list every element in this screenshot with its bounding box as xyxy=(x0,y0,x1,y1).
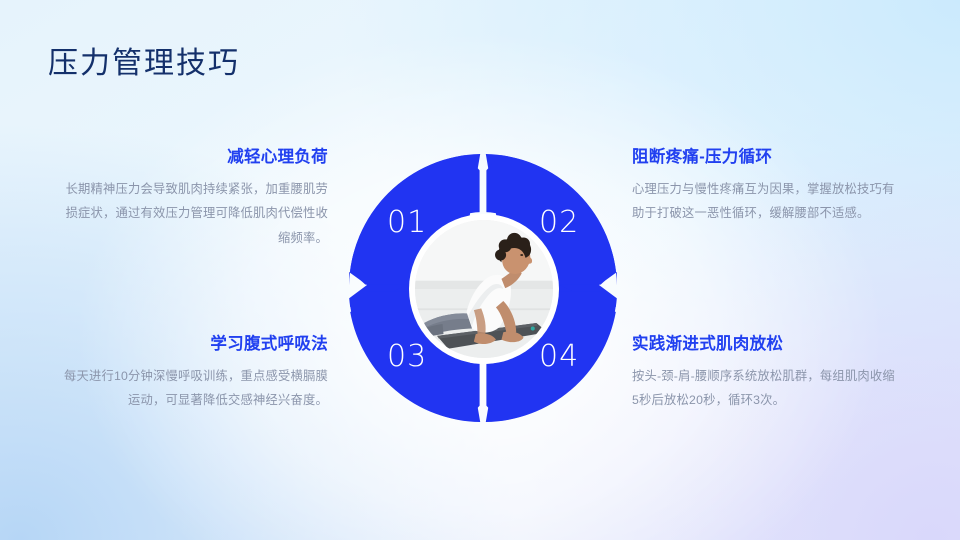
info-body-04: 按头-颈-肩-腰顺序系统放松肌群，每组肌肉收缩5秒后放松20秒，循环3次。 xyxy=(632,364,900,413)
cycle-number-02: 02 xyxy=(539,208,579,238)
cycle-diagram: 01 02 03 04 xyxy=(347,152,619,424)
info-block-01: 减轻心理负荷 长期精神压力会导致肌肉持续紧张，加重腰肌劳损症状，通过有效压力管理… xyxy=(60,148,328,251)
center-photo xyxy=(415,220,553,358)
info-block-02: 阻断疼痛-压力循环 心理压力与慢性疼痛互为因果，掌握放松技巧有助于打破这一恶性循… xyxy=(632,148,900,226)
yoga-pose-illustration xyxy=(415,220,553,358)
info-heading-02: 阻断疼痛-压力循环 xyxy=(632,148,900,168)
cycle-number-03: 03 xyxy=(387,342,427,372)
info-heading-03: 学习腹式呼吸法 xyxy=(60,335,328,355)
center-photo-ring xyxy=(409,214,559,364)
cycle-number-04: 04 xyxy=(539,342,579,372)
info-body-01: 长期精神压力会导致肌肉持续紧张，加重腰肌劳损症状，通过有效压力管理可降低肌肉代偿… xyxy=(60,177,328,251)
info-heading-01: 减轻心理负荷 xyxy=(60,148,328,168)
cycle-number-01: 01 xyxy=(387,208,427,238)
info-body-02: 心理压力与慢性疼痛互为因果，掌握放松技巧有助于打破这一恶性循环，缓解腰部不适感。 xyxy=(632,177,900,226)
info-block-03: 学习腹式呼吸法 每天进行10分钟深慢呼吸训练，重点感受横膈膜运动，可显著降低交感… xyxy=(60,335,328,413)
info-block-04: 实践渐进式肌肉放松 按头-颈-肩-腰顺序系统放松肌群，每组肌肉收缩5秒后放松20… xyxy=(632,335,900,413)
slide-canvas: 压力管理技巧 减轻心理负荷 长期精神压力会导致肌肉持续紧张，加重腰肌劳损症状，通… xyxy=(0,0,960,540)
info-body-03: 每天进行10分钟深慢呼吸训练，重点感受横膈膜运动，可显著降低交感神经兴奋度。 xyxy=(60,364,328,413)
page-title: 压力管理技巧 xyxy=(48,38,240,82)
info-heading-04: 实践渐进式肌肉放松 xyxy=(632,335,900,355)
